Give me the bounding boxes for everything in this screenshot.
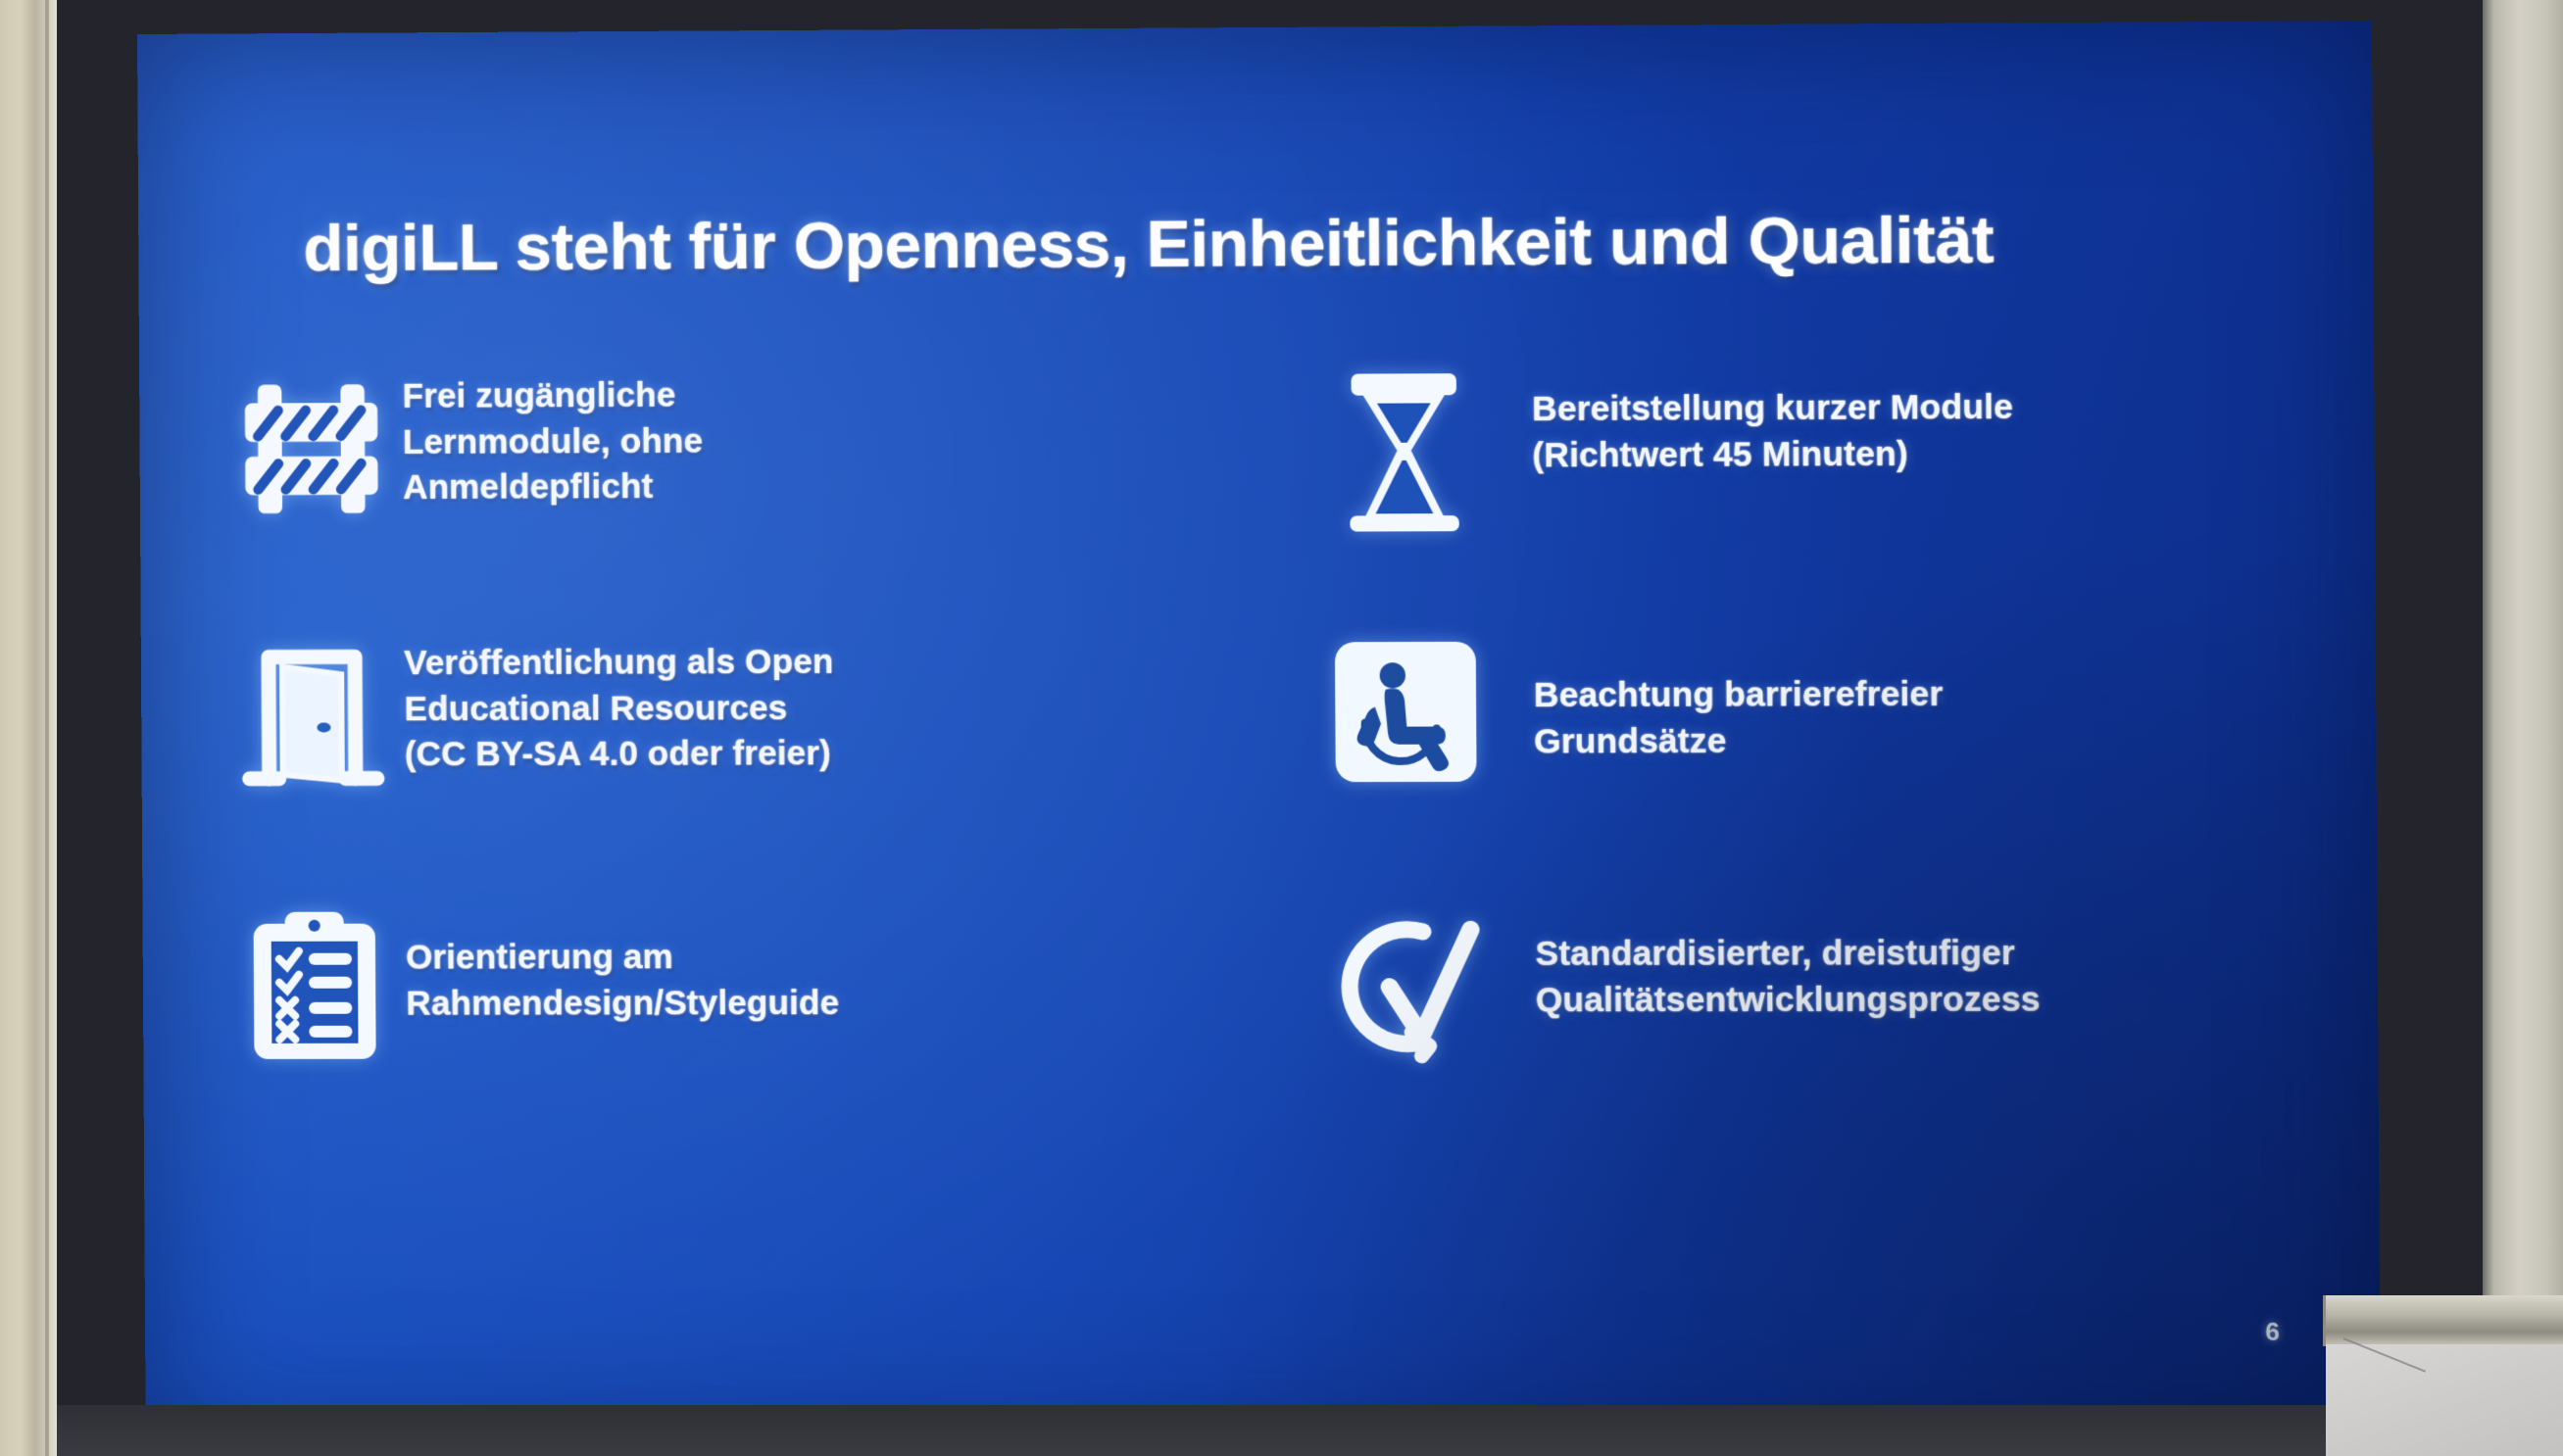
feature-text: Veröffentlichung als Open Educational Re… [386,632,834,778]
feature-text: Orientierung am Rahmendesign/Styleguide [388,899,840,1027]
feature-line: Frei zugängliche [402,372,702,419]
feature-text: Beachtung barrierefreier Grundsätze [1500,628,1944,764]
cycle-check-icon [1254,898,1503,1064]
wall-left [0,0,57,1456]
feature-line: Standardisierter, dreistufiger [1535,931,2040,978]
flipchart-paper [2326,1344,2563,1456]
wall-seam [45,0,49,1456]
room-photo: digiLL steht für Openness, Einheitlichke… [0,0,2563,1456]
feature-line: (CC BY-SA 4.0 oder freier) [405,731,835,778]
feature-item: Veröffentlichung als Open Educational Re… [141,630,1254,900]
feature-item: Beachtung barrierefreier Grundsätze [1252,627,2377,898]
feature-item: Bereitstellung kurzer Module (Richtwert … [1250,358,2375,631]
wall-right [2483,0,2563,1456]
feature-columns: Frei zugängliche Lernmodule, ohne Anmeld… [139,358,2379,1167]
feature-item: Orientierung am Rahmendesign/Styleguide [142,898,1255,1167]
page-number: 6 [2265,1317,2280,1347]
feature-item: Standardisierter, dreistufiger Qualitäts… [1254,897,2379,1167]
feature-line: Anmeldepflicht [403,464,703,511]
clipboard-checklist-icon [142,900,388,1065]
feature-line: Rahmendesign/Styleguide [406,981,839,1027]
flipchart-clamp [2323,1295,2563,1346]
feature-line: Veröffentlichung als Open [404,640,834,687]
left-column: Frei zugängliche Lernmodule, ohne Anmeld… [139,363,1255,1167]
flipchart-easel [2323,1295,2563,1456]
wall-skirting [57,1405,2483,1456]
feature-line: Lernmodule, ohne [403,418,703,465]
page-title: digiLL steht für Openness, Einheitlichke… [303,205,2236,284]
feature-text: Frei zugängliche Lernmodule, ohne Anmeld… [384,364,703,510]
feature-line: (Richtwert 45 Minuten) [1532,431,2013,479]
feature-line: Educational Resources [404,686,834,733]
feature-text: Bereitstellung kurzer Module (Richtwert … [1498,360,2013,479]
right-column: Bereitstellung kurzer Module (Richtwert … [1250,358,2378,1167]
wheelchair-accessibility-icon [1252,630,1501,787]
feature-line: Qualitätsentwicklungsprozess [1536,977,2041,1024]
feature-line: Beachtung barrierefreier [1534,672,1944,719]
feature-line: Bereitstellung kurzer Module [1532,385,2013,433]
barrier-icon [139,366,385,522]
feature-text: Standardisierter, dreistufiger Qualitäts… [1502,898,2041,1024]
open-door-icon [141,633,387,794]
feature-line: Orientierung am [406,935,839,981]
feature-item: Frei zugängliche Lernmodule, ohne Anmeld… [139,363,1252,634]
presentation-slide: digiLL steht für Openness, Einheitlichke… [137,21,2381,1456]
feature-line: Grundsätze [1534,718,1944,765]
hourglass-icon [1250,362,1499,533]
